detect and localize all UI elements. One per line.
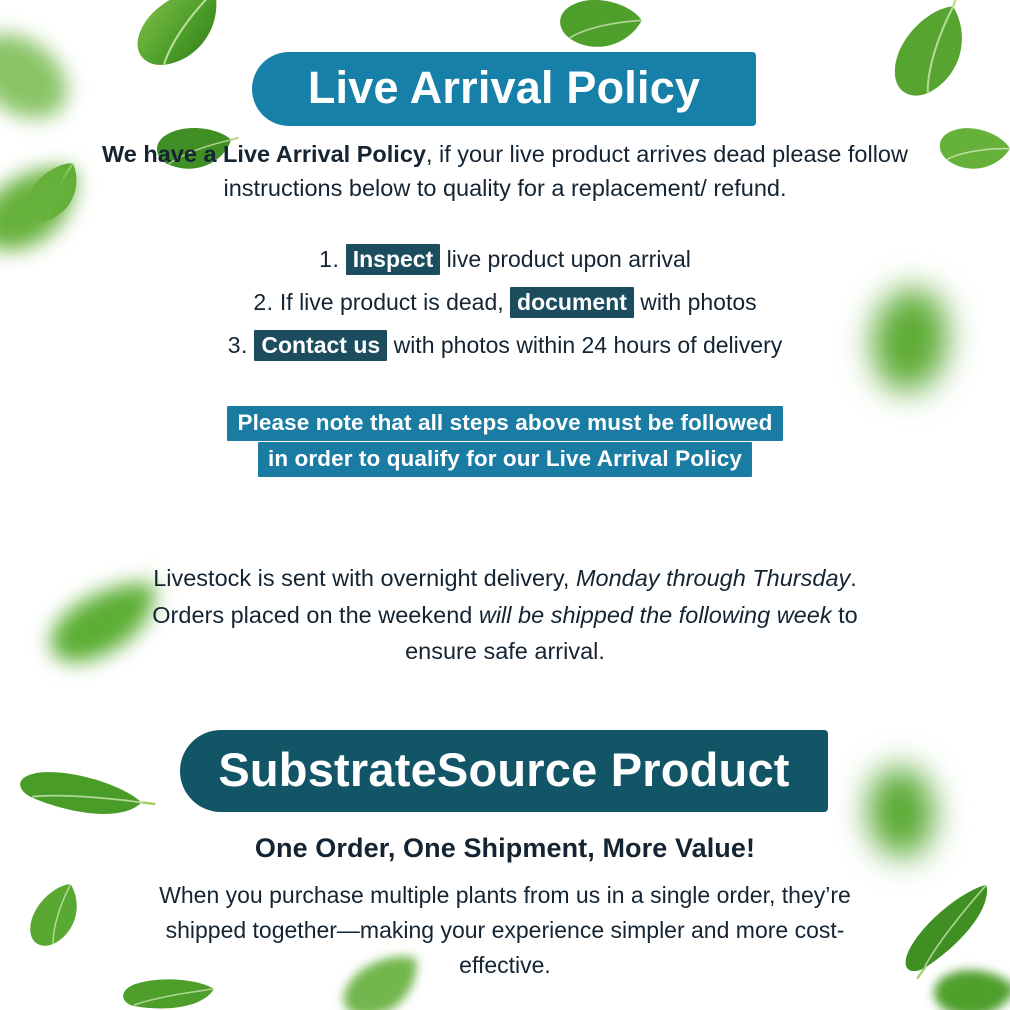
policy-steps-list: 1. Inspect live product upon arrival 2. … (0, 246, 1010, 375)
step-highlight-document: document (510, 287, 634, 318)
step-post-text: live product upon arrival (440, 246, 691, 272)
policy-step-item: 1. Inspect live product upon arrival (0, 246, 1010, 273)
product-tagline: One Order, One Shipment, More Value! (0, 833, 1010, 864)
intro-bold-lead: We have a Live Arrival Policy (102, 141, 426, 167)
step-number: 2. (253, 289, 273, 315)
note-line-1-wrap: Please note that all steps above must be… (0, 410, 1010, 436)
live-arrival-policy-title: Live Arrival Policy (308, 62, 700, 114)
shipping-italic-days: Monday through Thursday (576, 565, 850, 591)
step-post-text: with photos within 24 hours of delivery (387, 332, 782, 358)
step-number: 3. (228, 332, 248, 358)
policy-step-item: 2. If live product is dead, document wit… (0, 289, 1010, 316)
note-line-2-wrap: in order to qualify for our Live Arrival… (0, 446, 1010, 472)
substratesource-product-title: SubstrateSource Product (218, 742, 789, 797)
policy-note-block: Please note that all steps above must be… (0, 410, 1010, 482)
shipping-schedule-paragraph: Livestock is sent with overnight deliver… (0, 560, 1010, 670)
policy-step-item: 3. Contact us with photos within 24 hour… (0, 332, 1010, 359)
step-number: 1. (319, 246, 339, 272)
note-line-2: in order to qualify for our Live Arrival… (258, 442, 752, 477)
note-line-1: Please note that all steps above must be… (227, 406, 782, 441)
live-arrival-policy-banner: Live Arrival Policy (252, 52, 756, 126)
step-post-text: with photos (634, 289, 757, 315)
shipping-text-part-1: Livestock is sent with overnight deliver… (153, 565, 576, 591)
step-pre-text: If live product is dead, (280, 289, 510, 315)
step-highlight-contact-us[interactable]: Contact us (254, 330, 387, 361)
product-description-paragraph: When you purchase multiple plants from u… (0, 878, 1010, 983)
live-arrival-policy-graphic: Live Arrival Policy We have a Live Arriv… (0, 0, 1010, 1010)
shipping-italic-following-week: will be shipped the following week (479, 602, 832, 628)
step-highlight-inspect: Inspect (346, 244, 441, 275)
policy-content: Live Arrival Policy We have a Live Arriv… (0, 0, 1010, 1010)
intro-paragraph: We have a Live Arrival Policy, if your l… (0, 138, 1010, 206)
substratesource-product-banner: SubstrateSource Product (180, 730, 828, 812)
